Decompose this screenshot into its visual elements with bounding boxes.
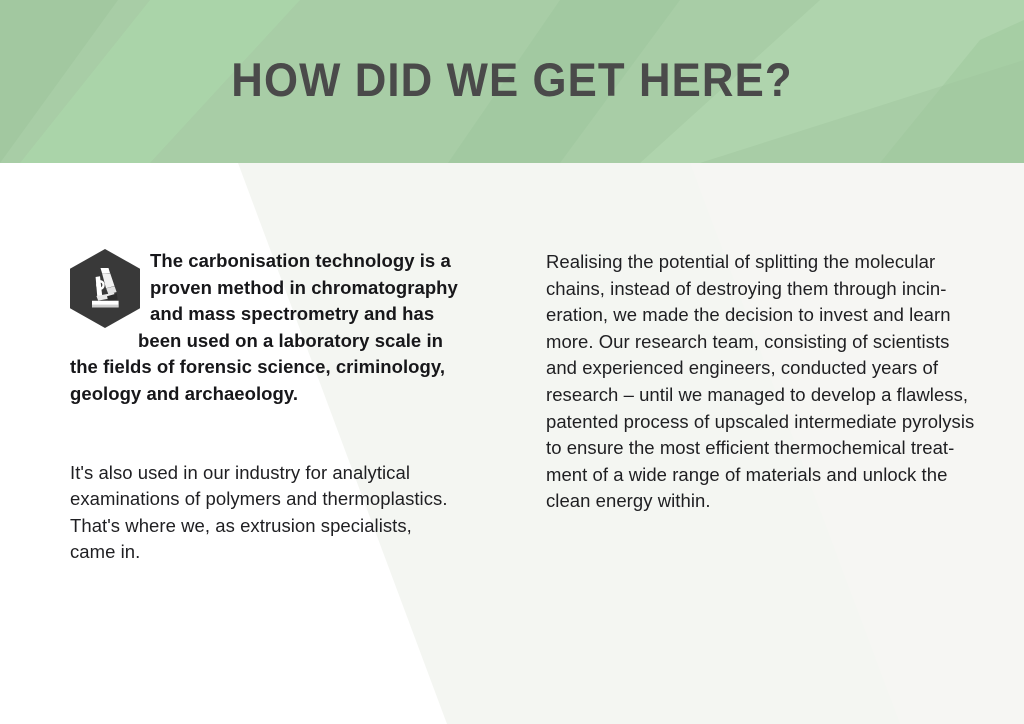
paragraph-line: patented process of upscaled intermediat… <box>546 409 992 436</box>
header-band: HOW DID WE GET HERE? <box>0 0 1024 163</box>
paragraph-line: eration, we made the decision to invest … <box>546 302 992 329</box>
paragraph-line: and experienced engineers, conducted yea… <box>546 355 992 382</box>
paragraph-line: came in. <box>70 539 474 566</box>
paragraph-line: ment of a wide range of materials and un… <box>546 462 992 489</box>
right-paragraph: Realising the potential of splitting the… <box>546 249 992 515</box>
lead-line: been used on a laboratory scale in <box>70 328 474 355</box>
paragraph-line: more. Our research team, consisting of s… <box>546 329 992 356</box>
left-column: The carbonisation technology is a proven… <box>70 248 474 566</box>
paragraph-line: That's where we, as extrusion specialist… <box>70 513 474 540</box>
right-column: Realising the potential of splitting the… <box>546 249 992 515</box>
microscope-icon <box>83 266 127 312</box>
paragraph-line: to ensure the most efficient thermochemi… <box>546 435 992 462</box>
lead-line: the fields of forensic science, criminol… <box>70 354 474 381</box>
paragraph-line: examinations of polymers and thermoplast… <box>70 486 474 513</box>
paragraph-line: Realising the potential of splitting the… <box>546 249 992 276</box>
content-area: The carbonisation technology is a proven… <box>0 163 1024 724</box>
slide-canvas: HOW DID WE GET HERE? <box>0 0 1024 724</box>
left-paragraph-2: It's also used in our industry for analy… <box>70 460 474 566</box>
lead-line: geology and archaeology. <box>70 381 474 408</box>
paragraph-line: clean energy within. <box>546 488 992 515</box>
page-title: HOW DID WE GET HERE? <box>36 0 988 163</box>
paragraph-line: chains, instead of destroying them throu… <box>546 276 992 303</box>
paragraph-line: research – until we managed to develop a… <box>546 382 992 409</box>
microscope-badge <box>70 249 140 328</box>
paragraph-line: It's also used in our industry for analy… <box>70 460 474 487</box>
